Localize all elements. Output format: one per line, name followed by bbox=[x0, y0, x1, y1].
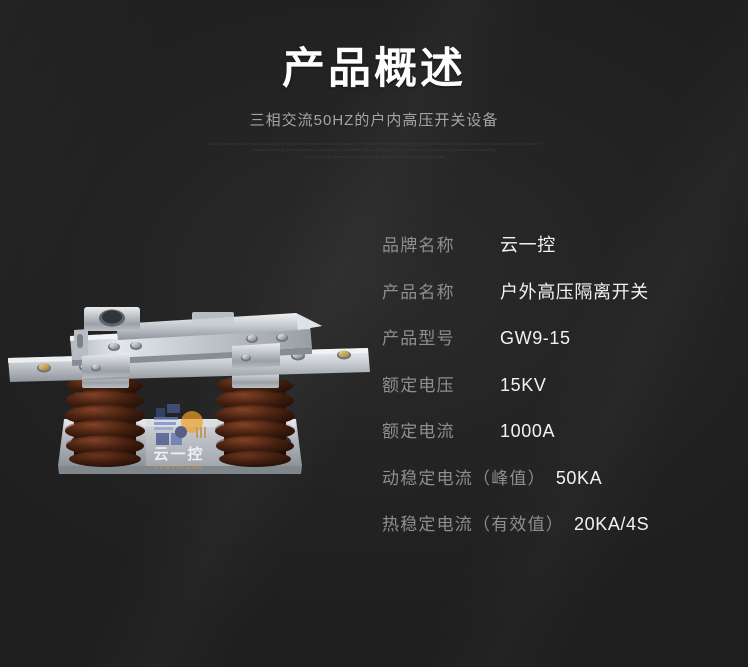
insulator-left bbox=[65, 365, 145, 467]
spec-value: 户外高压隔离开关 bbox=[500, 283, 649, 301]
spec-row: 热稳定电流（有效值） 20KA/4S bbox=[382, 515, 742, 562]
product-overview-page: 产品概述 三相交流50HZ的户内高压开关设备 Yekong company is… bbox=[0, 0, 748, 667]
spec-row: 额定电流 1000A bbox=[382, 422, 742, 469]
decorative-microtext: Yekong company is devoted in producing t… bbox=[159, 141, 589, 160]
spec-label: 热稳定电流（有效值） bbox=[382, 516, 564, 533]
spec-value: 1000A bbox=[500, 422, 555, 440]
page-header: 产品概述 三相交流50HZ的户内高压开关设备 Yekong company is… bbox=[0, 0, 748, 160]
spec-label: 额定电压 bbox=[382, 377, 500, 394]
spec-value: 50KA bbox=[556, 469, 602, 487]
product-photo: 云一控 YUNYIKONG bbox=[0, 296, 396, 496]
spec-value: GW9-15 bbox=[500, 329, 571, 347]
spec-value: 云一控 bbox=[500, 236, 556, 254]
spec-label: 产品型号 bbox=[382, 330, 500, 347]
spec-label: 品牌名称 bbox=[382, 237, 500, 254]
svg-text:YUNYIKONG: YUNYIKONG bbox=[154, 465, 204, 471]
spec-label: 动稳定电流（峰值） bbox=[382, 470, 546, 487]
svg-text:云一控: 云一控 bbox=[153, 445, 204, 463]
insulator-right bbox=[215, 365, 295, 467]
spec-row: 产品名称 户外高压隔离开关 bbox=[382, 283, 742, 330]
spec-row: 产品型号 GW9-15 bbox=[382, 329, 742, 376]
spec-value: 15KV bbox=[500, 376, 546, 394]
spec-row: 额定电压 15KV bbox=[382, 376, 742, 423]
page-title: 产品概述 bbox=[0, 48, 748, 91]
spec-value: 20KA/4S bbox=[574, 515, 649, 533]
specifications-list: 品牌名称 云一控 产品名称 户外高压隔离开关 产品型号 GW9-15 额定电压 … bbox=[382, 236, 742, 562]
spec-label: 额定电流 bbox=[382, 423, 500, 440]
page-subtitle: 三相交流50HZ的户内高压开关设备 bbox=[0, 113, 748, 128]
microtext-line: the high voltage instrument the high vol… bbox=[159, 154, 589, 160]
spec-label: 产品名称 bbox=[382, 284, 500, 301]
spec-row: 动稳定电流（峰值） 50KA bbox=[382, 469, 742, 516]
spec-row: 品牌名称 云一控 bbox=[382, 236, 742, 283]
